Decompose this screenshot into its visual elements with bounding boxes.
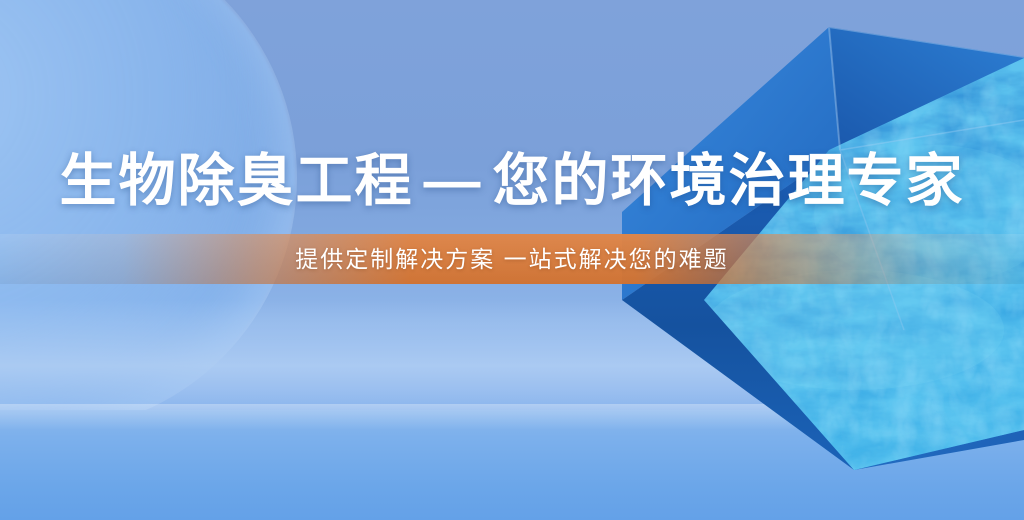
globe-sphere-rim <box>0 0 297 432</box>
headline-left: 生物除臭工程 <box>60 149 414 213</box>
headline-right: 您的环境治理专家 <box>493 149 965 213</box>
page-title: 生物除臭工程—您的环境治理专家 <box>0 148 1024 214</box>
hero-banner: 生物除臭工程—您的环境治理专家 提供定制解决方案 一站式解决您的难题 <box>0 0 1024 520</box>
headline-dash: — <box>414 149 493 213</box>
page-subtitle: 提供定制解决方案 一站式解决您的难题 <box>0 244 1024 274</box>
